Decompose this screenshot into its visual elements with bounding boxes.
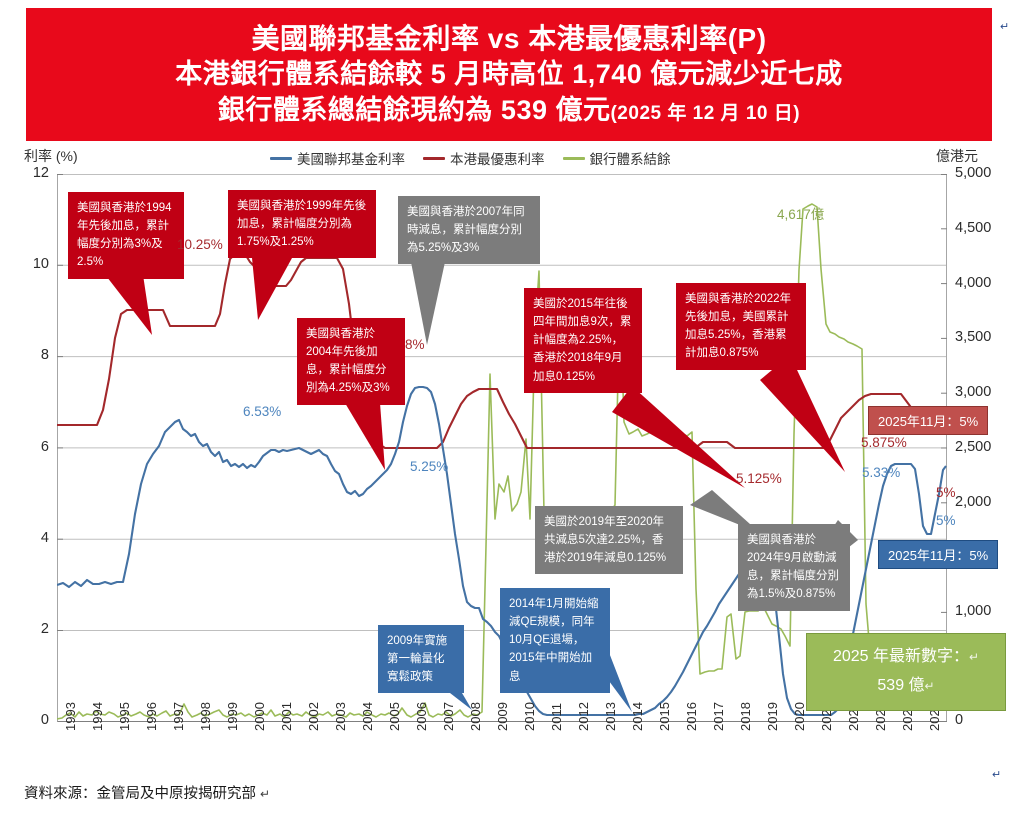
value-tag-6-53-percent: 6.53%: [243, 404, 281, 419]
x-tick-2008: 2008: [468, 702, 483, 731]
x-tick-2018: 2018: [738, 702, 753, 731]
legend-swatch-balance: [563, 157, 585, 160]
y-tick-8: 8: [9, 347, 49, 363]
x-tick-2014: 2014: [630, 702, 645, 731]
x-tick-1993: 1993: [63, 702, 78, 731]
paragraph-mark-right: ↵: [992, 768, 1001, 781]
x-tick-2009: 2009: [495, 702, 510, 731]
title-line-3-sub: (2025 年 12 月 10 日): [610, 103, 800, 124]
callout-2019[interactable]: 美國於2019年至2020年共減息5次達2.25%，香港於2019年減息0.12…: [535, 506, 683, 574]
x-tick-2004: 2004: [360, 702, 375, 731]
value-tag-5-25-percent: 5.25%: [410, 459, 448, 474]
x-tick-2000: 2000: [252, 702, 267, 731]
title-line-2: 本港銀行體系結餘較 5 月時高位 1,740 億元減少近七成: [175, 58, 843, 91]
title-line-1: 美國聯邦基金利率 vs 本港最優惠利率(P): [251, 22, 766, 57]
value-tag-fed-5-percent: 5%: [936, 513, 956, 528]
callout-1994[interactable]: 美國與香港於1994年先後加息，累計幅度分別為3%及2.5%: [68, 192, 184, 279]
badge-fed-rate-nov-2025[interactable]: 2025年11月：5%: [878, 540, 998, 569]
paragraph-mark-top: ↵: [1000, 20, 1009, 33]
x-tick-2002: 2002: [306, 702, 321, 731]
value-tag-10-25-percent: 10.25%: [177, 237, 223, 252]
callout-2022[interactable]: 美國與香港於2022年先後加息，美國累計加息5.25%，香港累計加息0.875%: [676, 283, 806, 370]
callout-2009[interactable]: 2009年實施第一輪量化寬鬆政策: [378, 625, 464, 693]
y2-tick-2000: 2,000: [955, 494, 1005, 510]
x-tick-2007: 2007: [441, 702, 456, 731]
x-tick-1994: 1994: [90, 702, 105, 731]
y-tick-12: 12: [9, 165, 49, 181]
callout-2024[interactable]: 美國與香港於2024年9月啟動減息，累計幅度分別為1.5%及0.875%: [738, 524, 850, 611]
x-tick-2011: 2011: [549, 703, 564, 731]
x-tick-2005: 2005: [387, 702, 402, 731]
callout-2015[interactable]: 美國於2015年往後四年間加息9次，累計幅度為2.25%，香港於2018年9月加…: [524, 288, 642, 393]
value-tag-prime-5-percent: 5%: [936, 485, 956, 500]
x-tick-2001: 2001: [279, 702, 294, 731]
source-text: 資料來源：金管局及中原按揭研究部: [24, 786, 256, 802]
x-tick-1998: 1998: [198, 702, 213, 731]
y2-tick-0: 0: [955, 712, 1005, 728]
y-tick-10: 10: [9, 256, 49, 272]
pilcrow-icon-footer: ↵: [260, 787, 270, 801]
y2-tick-4500: 4,500: [955, 220, 1005, 236]
callout-2014[interactable]: 2014年1月開始縮減QE規模，同年10月QE退場，2015年中開始加息: [500, 588, 610, 693]
x-tick-2015: 2015: [657, 702, 672, 731]
x-tick-2013: 2013: [603, 702, 618, 731]
callout-1999[interactable]: 美國與香港於1999年先後加息，累計幅度分別為1.75%及1.25%: [228, 190, 376, 258]
value-tag-5-33-percent: 5.33%: [862, 465, 900, 480]
x-tick-2020: 2020: [792, 702, 807, 731]
x-tick-2019: 2019: [765, 702, 780, 731]
x-tick-2016: 2016: [684, 702, 699, 731]
legend-label-balance: 銀行體系結餘: [590, 148, 671, 168]
y-tick-4: 4: [9, 530, 49, 546]
latest-figure-label: 2025 年最新數字：↵: [833, 643, 979, 672]
legend-label-prime: 本港最優惠利率: [450, 148, 545, 168]
y2-tick-3000: 3,000: [955, 384, 1005, 400]
legend-item-prime[interactable]: 本港最優惠利率: [423, 148, 545, 168]
title-line-3-main: 銀行體系總結餘現約為 539 億元: [218, 95, 611, 125]
value-tag-4617-billion: 4,617億: [777, 203, 824, 223]
title-banner: 美國聯邦基金利率 vs 本港最優惠利率(P) 本港銀行體系結餘較 5 月時高位 …: [26, 8, 992, 141]
pilcrow-icon: ↵: [969, 650, 979, 664]
y-tick-0: 0: [9, 712, 49, 728]
left-axis-caption: 利率 (%): [24, 146, 78, 166]
value-tag-8-percent: 8%: [405, 337, 425, 352]
x-tick-1997: 1997: [171, 702, 186, 731]
x-tick-1995: 1995: [117, 702, 132, 731]
y2-tick-2500: 2,500: [955, 439, 1005, 455]
x-tick-2003: 2003: [333, 702, 348, 731]
callout-2004[interactable]: 美國與香港於2004年先後加息，累計幅度分別為4.25%及3%: [297, 318, 405, 405]
x-tick-2010: 2010: [522, 702, 537, 731]
y2-tick-3500: 3,500: [955, 329, 1005, 345]
y2-tick-1000: 1,000: [955, 603, 1005, 619]
legend-item-fed[interactable]: 美國聯邦基金利率: [270, 148, 405, 168]
source-footer: 資料來源：金管局及中原按揭研究部 ↵: [24, 782, 270, 803]
legend-swatch-fed: [270, 157, 292, 160]
right-axis-caption: 億港元: [936, 146, 978, 166]
legend-item-balance[interactable]: 銀行體系結餘: [563, 148, 671, 168]
series-line-prime-rate: [57, 254, 946, 448]
y-tick-6: 6: [9, 439, 49, 455]
title-line-3: 銀行體系總結餘現約為 539 億元(2025 年 12 月 10 日): [218, 94, 800, 127]
x-tick-2006: 2006: [414, 702, 429, 731]
y-tick-2: 2: [9, 621, 49, 637]
latest-figure-value: 539 億↵: [877, 672, 934, 701]
y2-tick-5000: 5,000: [955, 165, 1005, 181]
legend-label-fed: 美國聯邦基金利率: [297, 148, 405, 168]
chart-legend: 美國聯邦基金利率 本港最優惠利率 銀行體系結餘: [270, 148, 750, 168]
x-tick-1999: 1999: [225, 702, 240, 731]
legend-swatch-prime: [423, 157, 445, 160]
x-tick-2017: 2017: [711, 702, 726, 731]
latest-figure-box[interactable]: 2025 年最新數字：↵ 539 億↵: [806, 633, 1006, 711]
value-tag-5-125-percent: 5.125%: [736, 471, 782, 486]
x-tick-1996: 1996: [144, 702, 159, 731]
pilcrow-icon-2: ↵: [925, 679, 935, 693]
value-tag-5-875-percent: 5.875%: [861, 435, 907, 450]
y2-tick-4000: 4,000: [955, 275, 1005, 291]
x-tick-2012: 2012: [576, 702, 591, 731]
callout-2007[interactable]: 美國與香港於2007年同時減息，累計幅度分別為5.25%及3%: [398, 196, 540, 264]
badge-prime-rate-nov-2025[interactable]: 2025年11月：5%: [868, 406, 988, 435]
